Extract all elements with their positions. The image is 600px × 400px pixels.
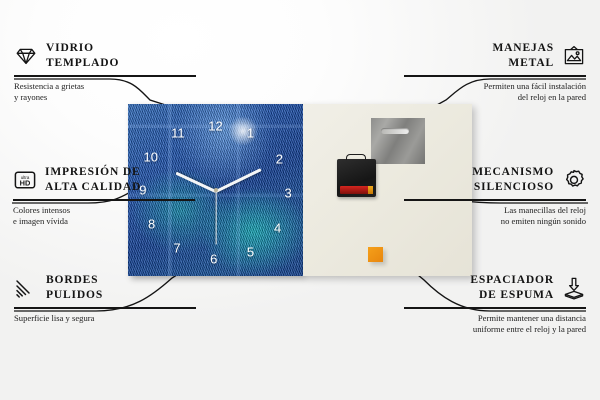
mechanism-hanging-tab [346, 154, 366, 160]
callout-divider [14, 75, 196, 76]
callout-espaciador-espuma: ESPACIADOR DE ESPUMA Permite mantener un… [404, 273, 586, 336]
callout-subtitle: Colores intensos e imagen vívida [13, 205, 195, 228]
clock-hands-hub [214, 188, 218, 192]
callout-subtitle: Permite mantener una distancia uniforme … [404, 313, 586, 336]
clock-number-12: 12 [208, 120, 222, 133]
callout-mecanismo-silencioso: MECANISMO SILENCIOSO Las manecillas del … [404, 165, 586, 228]
metal-hanger-plate [371, 118, 425, 164]
callout-subtitle: Superficie lisa y segura [14, 313, 196, 325]
diamond-icon [14, 44, 38, 68]
callout-header: ultra HD IMPRESIÓN DE ALTA CALIDAD [13, 165, 195, 194]
callout-subtitle: Permiten una fácil instalación del reloj… [404, 81, 586, 104]
polished-edges-icon [14, 276, 38, 300]
foam-spacer-arrow-icon [562, 276, 586, 300]
callout-manejas-metal: MANEJAS METAL Permiten una fácil instala… [404, 41, 586, 104]
callout-title: MECANISMO SILENCIOSO [472, 165, 554, 194]
callout-title: VIDRIO TEMPLADO [46, 41, 119, 70]
callout-header: BORDES PULIDOS [14, 273, 196, 302]
clock-second-hand [215, 191, 216, 245]
ultra-hd-icon: ultra HD [13, 168, 37, 192]
clock-number-5: 5 [247, 245, 254, 258]
infographic-canvas: 12 1 2 3 4 5 6 7 8 9 10 11 [0, 0, 600, 400]
callout-bordes-pulidos: BORDES PULIDOS Superficie lisa y segura [14, 273, 196, 324]
quartz-mechanism-box [337, 159, 376, 197]
clock-number-7: 7 [173, 242, 180, 255]
foam-spacer-square [368, 247, 383, 262]
callout-header: MANEJAS METAL [404, 41, 586, 70]
callout-divider [404, 199, 586, 200]
clock-number-6: 6 [210, 252, 217, 265]
clock-number-11: 11 [171, 127, 185, 140]
battery [340, 186, 373, 194]
clock-number-2: 2 [276, 153, 283, 166]
callout-title: IMPRESIÓN DE ALTA CALIDAD [45, 165, 141, 194]
hd-label: HD [20, 178, 31, 187]
gear-icon [562, 168, 586, 192]
callout-subtitle: Las manecillas del reloj no emiten ningú… [404, 205, 586, 228]
callout-title: BORDES PULIDOS [46, 273, 103, 302]
clock-number-3: 3 [285, 187, 292, 200]
picture-hanger-icon [562, 44, 586, 68]
callout-title: ESPACIADOR DE ESPUMA [470, 273, 554, 302]
callout-header: ESPACIADOR DE ESPUMA [404, 273, 586, 302]
callout-header: VIDRIO TEMPLADO [14, 41, 196, 70]
callout-divider [14, 307, 196, 308]
clock-number-1: 1 [247, 127, 254, 140]
callout-title: MANEJAS METAL [492, 41, 554, 70]
callout-divider [404, 307, 586, 308]
callout-subtitle: Resistencia a grietas y rayones [14, 81, 196, 104]
callout-vidrio-templado: VIDRIO TEMPLADO Resistencia a grietas y … [14, 41, 196, 104]
clock-face-highlight [226, 114, 260, 148]
callout-divider [404, 75, 586, 76]
callout-header: MECANISMO SILENCIOSO [404, 165, 586, 194]
callout-impresion-alta-calidad: ultra HD IMPRESIÓN DE ALTA CALIDAD Color… [13, 165, 195, 228]
clock-number-4: 4 [274, 221, 281, 234]
callout-divider [13, 199, 195, 200]
clock-number-10: 10 [144, 151, 158, 164]
